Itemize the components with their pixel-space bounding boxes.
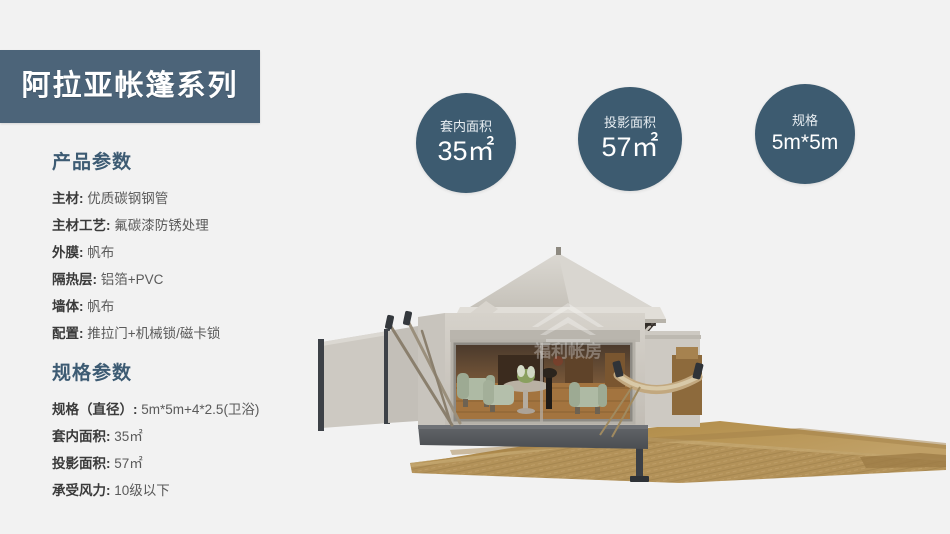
param-value: 推拉门+机械锁/磁卡锁 bbox=[87, 326, 220, 341]
badge-label: 投影面积 bbox=[604, 116, 656, 130]
tent-render-svg: 福利帐房 bbox=[300, 235, 950, 510]
param-key: 主材工艺: bbox=[52, 218, 111, 233]
param-value: 57㎡ bbox=[114, 456, 143, 471]
stone-base bbox=[418, 425, 648, 449]
badge-value: 5m*5m bbox=[772, 132, 839, 154]
param-value: 优质碳钢钢管 bbox=[87, 191, 168, 206]
title-banner: 阿拉亚帐篷系列 bbox=[0, 50, 260, 123]
param-key: 投影面积: bbox=[52, 456, 111, 471]
param-key: 隔热层: bbox=[52, 272, 97, 287]
slide-canvas: 阿拉亚帐篷系列 产品参数 主材: 优质碳钢钢管 主材工艺: 氟碳漆防锈处理 外膜… bbox=[0, 0, 950, 534]
page-title: 阿拉亚帐篷系列 bbox=[21, 72, 238, 101]
badge-value: 57㎡ bbox=[601, 133, 658, 161]
list-item: 主材: 优质碳钢钢管 bbox=[52, 185, 352, 212]
stat-badge-dimensions[interactable]: 规格 5m*5m bbox=[755, 84, 855, 184]
param-value: 氟碳漆防锈处理 bbox=[114, 218, 209, 233]
badge-value: 35㎡ bbox=[437, 137, 494, 165]
param-key: 承受风力: bbox=[52, 483, 111, 498]
param-value: 10级以下 bbox=[114, 483, 170, 498]
param-key: 配置: bbox=[52, 326, 84, 341]
param-value: 5m*5m+4*2.5(卫浴) bbox=[141, 402, 259, 417]
stat-badge-projected-area[interactable]: 投影面积 57㎡ bbox=[578, 87, 682, 191]
param-key: 套内面积: bbox=[52, 429, 111, 444]
param-key: 主材: bbox=[52, 191, 84, 206]
param-value: 帆布 bbox=[87, 299, 114, 314]
watermark-text: 福利帐房 bbox=[533, 341, 602, 361]
badge-label: 套内面积 bbox=[440, 120, 492, 134]
param-key: 外膜: bbox=[52, 245, 84, 260]
badge-label: 规格 bbox=[792, 114, 818, 128]
param-key: 规格（直径）: bbox=[52, 402, 138, 417]
product-params-heading: 产品参数 bbox=[52, 152, 352, 175]
tent-illustration: 福利帐房 bbox=[300, 235, 950, 510]
param-value: 35㎡ bbox=[114, 429, 143, 444]
stat-badge-interior-area[interactable]: 套内面积 35㎡ bbox=[416, 93, 516, 193]
param-value: 铝箔+PVC bbox=[101, 272, 164, 287]
left-awning-panel bbox=[318, 326, 418, 431]
param-value: 帆布 bbox=[87, 245, 114, 260]
param-key: 墙体: bbox=[52, 299, 84, 314]
